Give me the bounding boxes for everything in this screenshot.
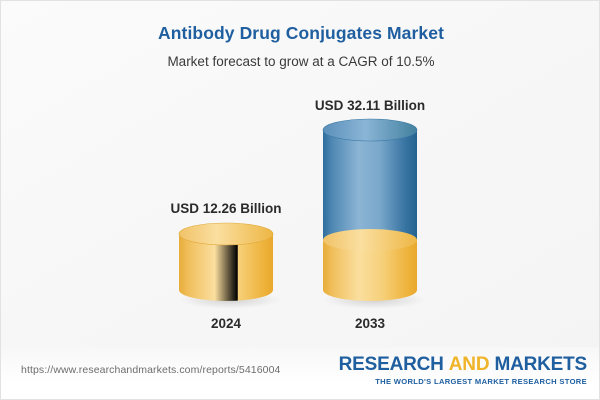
logo-tagline: THE WORLD'S LARGEST MARKET RESEARCH STOR… (339, 377, 587, 386)
infographic-card: Antibody Drug Conjugates Market Market f… (0, 0, 600, 400)
logo-word-and: AND (449, 354, 490, 375)
chart-plot-area: USD 12.26 Billion (1, 1, 600, 349)
data-label-2024: USD 12.26 Billion (116, 201, 336, 216)
logo-word-markets: MARKETS (494, 354, 587, 375)
footer: https://www.researchandmarkets.com/repor… (1, 347, 600, 399)
category-label-2033: 2033 (260, 316, 480, 331)
logo-wordmark: RESEARCH AND MARKETS (339, 355, 587, 375)
data-label-2033: USD 32.11 Billion (260, 98, 480, 113)
logo-word-research: RESEARCH (339, 354, 444, 375)
research-and-markets-logo[interactable]: RESEARCH AND MARKETS THE WORLD'S LARGEST… (339, 355, 587, 386)
cylinder-bar-2033 (322, 119, 420, 309)
cylinder-bar-2024 (178, 223, 276, 309)
report-url[interactable]: https://www.researchandmarkets.com/repor… (21, 364, 280, 376)
